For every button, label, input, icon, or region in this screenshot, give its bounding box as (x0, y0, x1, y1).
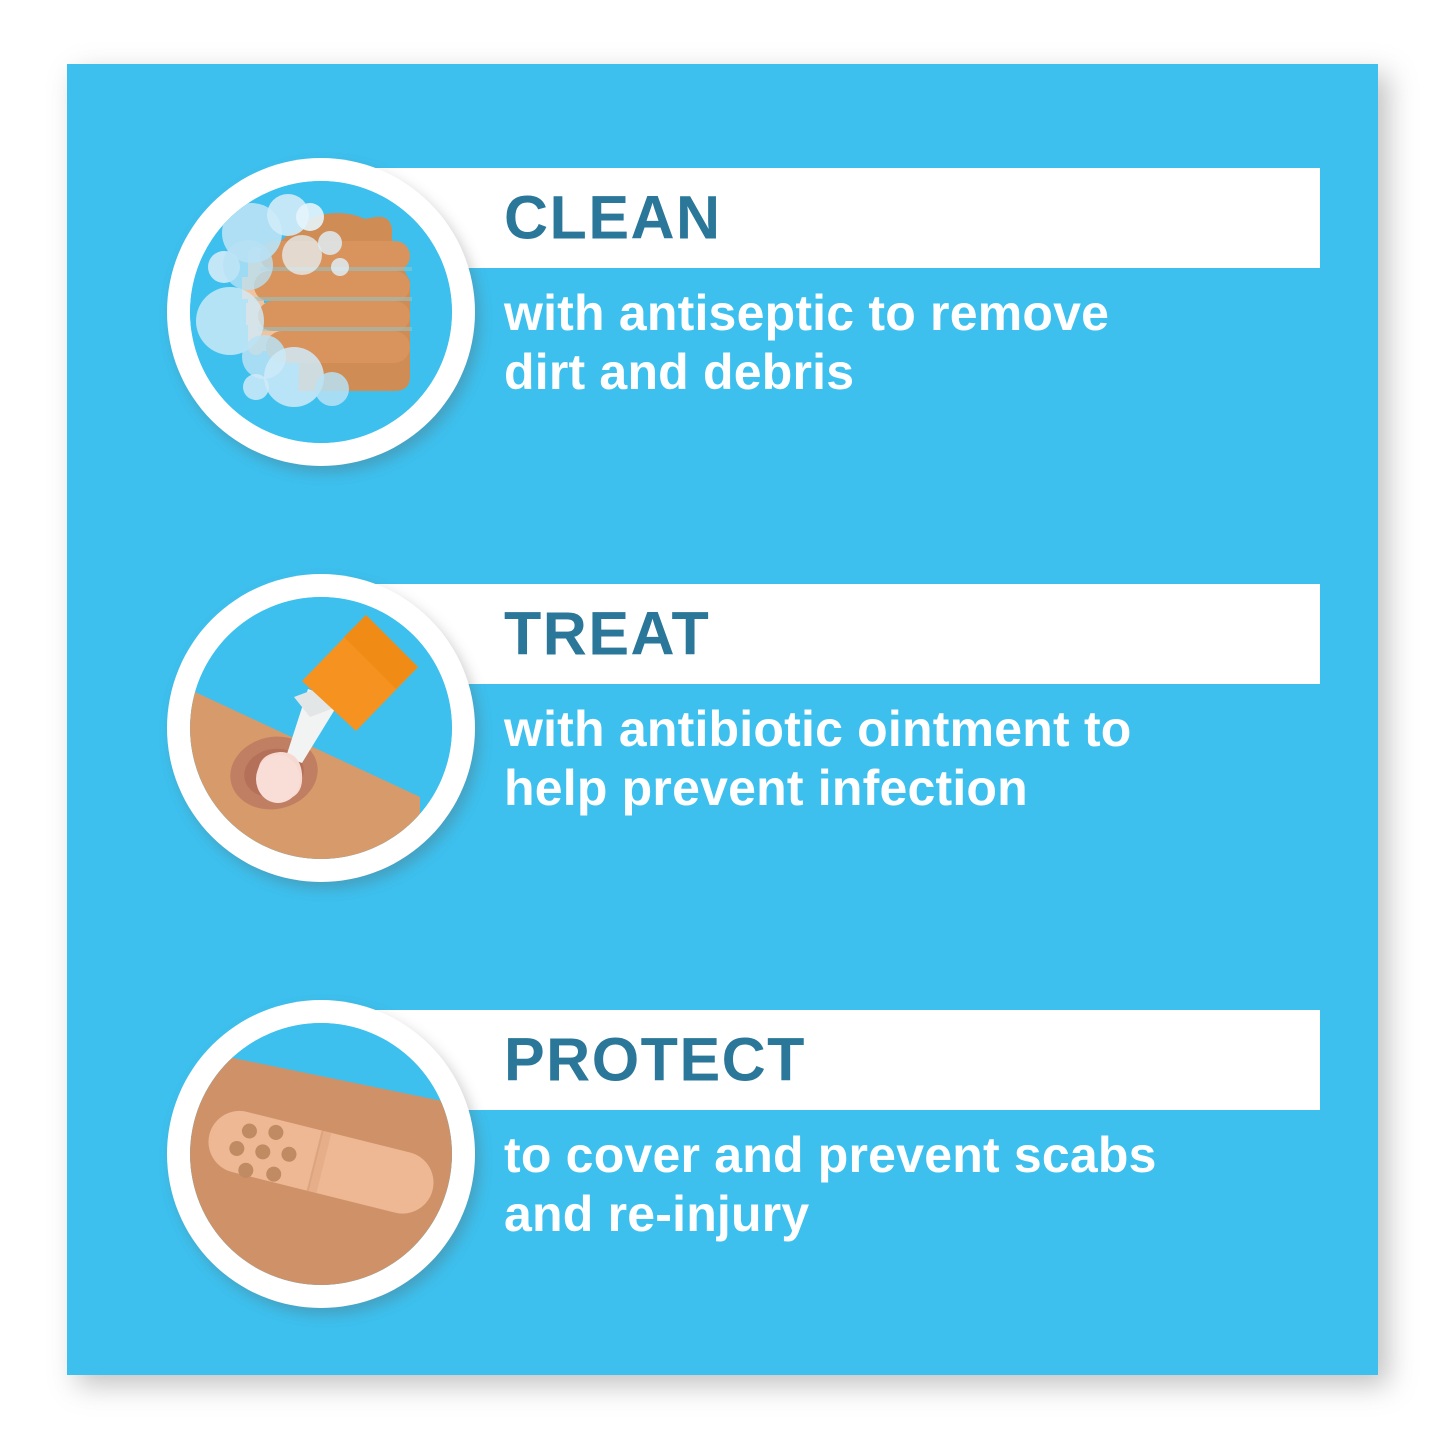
step-clean-body-line-1: with antiseptic to remove (504, 284, 1334, 343)
step-clean-body-line-2: dirt and debris (504, 343, 1334, 402)
step-treat-body-line-1: with antibiotic ointment to (504, 700, 1334, 759)
step-protect-title: PROTECT (504, 1030, 806, 1091)
step-treat-body: with antibiotic ointment to help prevent… (504, 700, 1334, 818)
wound-care-poster: CLEAN with antiseptic to remove dirt and… (67, 64, 1378, 1375)
step-protect-body: to cover and prevent scabs and re-injury (504, 1126, 1334, 1244)
step-treat-banner: TREAT (330, 584, 1320, 684)
step-clean-banner: CLEAN (330, 168, 1320, 268)
step-protect-badge (167, 1000, 475, 1308)
step-protect-body-line-1: to cover and prevent scabs (504, 1126, 1334, 1185)
step-clean-body: with antiseptic to remove dirt and debri… (504, 284, 1334, 402)
step-clean-badge (167, 158, 475, 466)
washing-hands-with-soap-icon (190, 181, 452, 443)
step-treat-body-line-2: help prevent infection (504, 759, 1334, 818)
poster-stage: CLEAN with antiseptic to remove dirt and… (0, 0, 1445, 1445)
ointment-tube-on-wound-icon (190, 597, 452, 859)
step-treat-badge (167, 574, 475, 882)
step-clean-title: CLEAN (504, 188, 722, 249)
step-treat-title: TREAT (504, 604, 710, 665)
step-protect-banner: PROTECT (330, 1010, 1320, 1110)
step-protect-body-line-2: and re-injury (504, 1185, 1334, 1244)
adhesive-bandage-icon (190, 1023, 452, 1285)
